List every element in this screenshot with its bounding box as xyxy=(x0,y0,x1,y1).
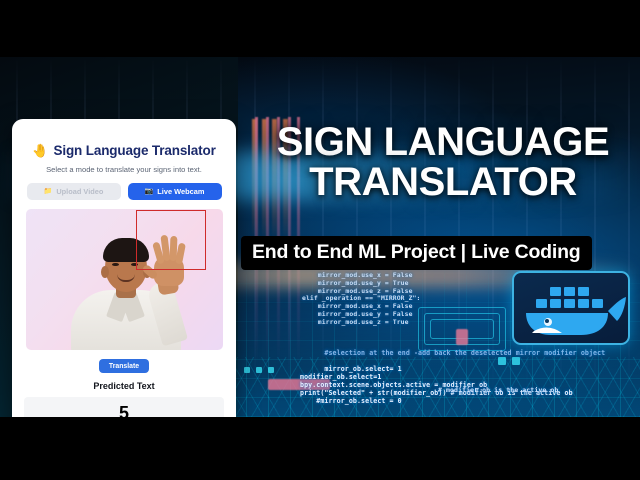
headline-line-1: SIGN LANGUAGE xyxy=(246,123,640,161)
subtitle-text: End to End ML Project | Live Coding xyxy=(252,241,581,263)
camera-icon: 📷 xyxy=(145,188,154,195)
live-webcam-label: Live Webcam xyxy=(157,187,204,196)
upload-video-button[interactable]: 📁 Upload Video xyxy=(27,183,121,200)
code-comment-line: #selection at the end -add back the dese… xyxy=(324,349,605,357)
docker-whale-logo xyxy=(512,271,630,345)
person-ear-left xyxy=(101,266,109,278)
card-title-text: Sign Language Translator xyxy=(54,143,216,158)
circuit-cell xyxy=(244,367,250,373)
circuit-cell xyxy=(268,367,274,373)
translator-app-card: 🤚 Sign Language Translator Select a mode… xyxy=(12,119,236,417)
mode-selector: 📁 Upload Video 📷 Live Webcam xyxy=(24,183,224,200)
card-subtitle: Select a mode to translate your signs in… xyxy=(46,165,202,174)
predicted-text-box: 5 xyxy=(24,397,224,417)
subtitle-banner: End to End ML Project | Live Coding xyxy=(241,236,592,270)
circuit-cell xyxy=(256,367,262,373)
content-stage: mirror_mod.use_x = False mirror_mod.use_… xyxy=(0,57,640,417)
thumbnail-frame: mirror_mod.use_x = False mirror_mod.use_… xyxy=(0,0,640,480)
background-code-top: mirror_mod.use_x = False mirror_mod.use_… xyxy=(302,272,420,327)
hand-detection-box xyxy=(136,210,206,270)
background-code-inline-comment: # modifier ob is the active ob xyxy=(438,387,558,395)
predicted-text-value: 5 xyxy=(119,403,129,417)
folder-icon: 📁 xyxy=(44,188,53,195)
person-eye-left xyxy=(112,263,119,267)
webcam-preview[interactable] xyxy=(26,209,223,350)
predicted-text-label: Predicted Text xyxy=(93,381,154,391)
raised-hand-icon: 🤚 xyxy=(32,144,48,157)
translate-button[interactable]: Translate xyxy=(99,359,149,373)
page-title: SIGN LANGUAGE TRANSLATOR xyxy=(246,123,640,202)
live-webcam-button[interactable]: 📷 Live Webcam xyxy=(128,183,222,200)
upload-video-label: Upload Video xyxy=(56,187,103,196)
docker-whale-icon xyxy=(514,273,630,345)
card-title: 🤚 Sign Language Translator xyxy=(32,143,215,158)
headline-line-2: TRANSLATOR xyxy=(246,163,640,201)
background-code-bottom: #selection at the end -add back the dese… xyxy=(300,341,605,413)
